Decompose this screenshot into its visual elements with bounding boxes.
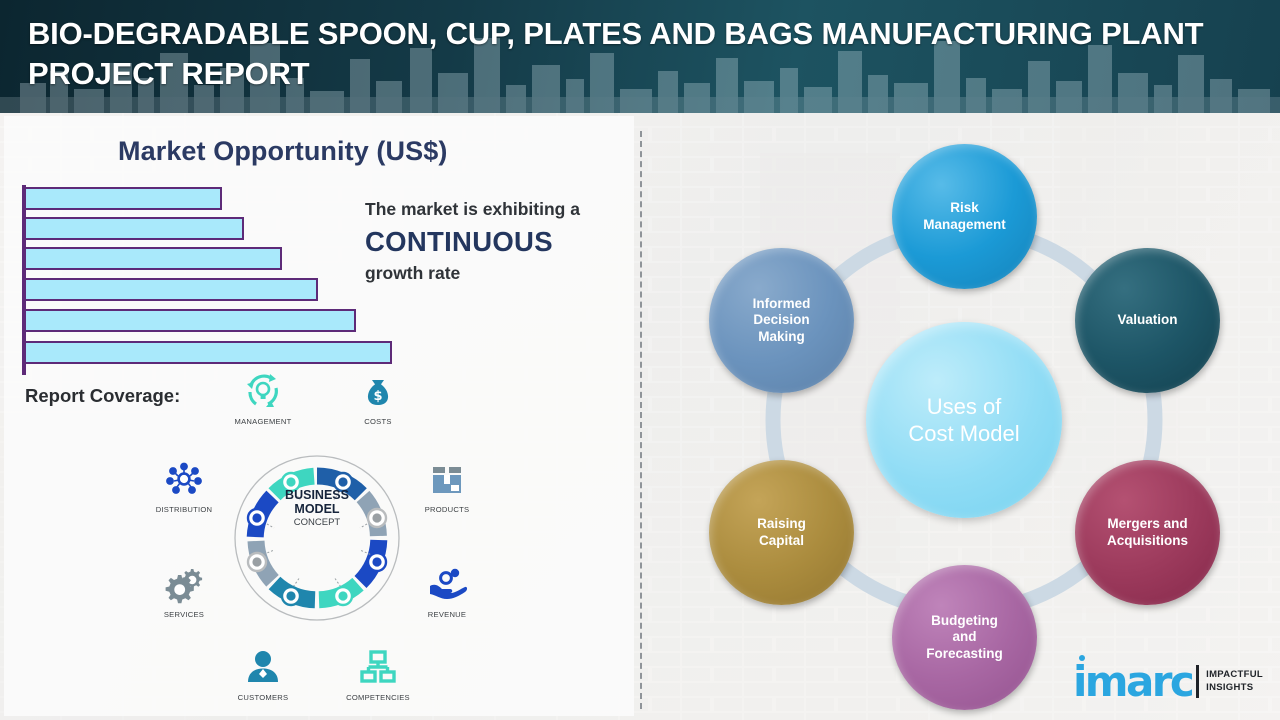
cycle-center-node[interactable]: Uses of Cost Model	[866, 322, 1062, 518]
node-label-line-3: Forecasting	[926, 646, 1003, 662]
coverage-item-customers: CUSTOMERS	[217, 644, 309, 702]
hand-coins-icon	[401, 561, 493, 607]
imarc-logo: imarc IMPACTFUL INSIGHTS	[1073, 659, 1273, 704]
blurb-line-1: The market is exhibiting a	[365, 198, 633, 222]
page-header: BIO-DEGRADABLE SPOON, CUP, PLATES AND BA…	[0, 0, 1280, 113]
center-label-line-2: Cost Model	[908, 420, 1019, 448]
user-person-icon	[217, 644, 309, 690]
svg-text:$: $	[373, 389, 382, 404]
coverage-item-services: SERVICES	[138, 561, 230, 619]
cycle-node-informed-decision-making[interactable]: Informed Decision Making	[709, 248, 854, 393]
node-label-line-2: and	[926, 629, 1003, 645]
node-label-line-1: Mergers and	[1107, 516, 1188, 532]
coverage-label-revenue: REVENUE	[401, 610, 493, 619]
business-model-center-text: BUSINESS MODEL CONCEPT	[257, 488, 377, 530]
bar-row	[26, 278, 318, 301]
bar-row	[26, 187, 222, 210]
cycle-node-mergers-acquisitions[interactable]: Mergers and Acquisitions	[1075, 460, 1220, 605]
logo-separator	[1196, 665, 1199, 698]
logo-wordmark: imarc	[1073, 661, 1192, 703]
coverage-label-competencies: COMPETENCIES	[332, 693, 424, 702]
money-bag-icon: $	[332, 368, 424, 414]
logo-tagline-line-2: INSIGHTS	[1206, 682, 1263, 695]
logo-tagline-line-1: IMPACTFUL	[1206, 669, 1263, 682]
uses-of-cost-model-diagram: Risk Management Valuation Mergers and Ac…	[645, 113, 1280, 720]
node-label-line-2: Capital	[757, 533, 806, 549]
cycle-node-raising-capital[interactable]: Raising Capital	[709, 460, 854, 605]
bar-row	[26, 309, 356, 332]
panel-divider	[640, 131, 642, 709]
cycle-node-budgeting-forecasting[interactable]: Budgeting and Forecasting	[892, 565, 1037, 710]
coverage-item-management: MANAGEMENT	[217, 368, 309, 426]
page-title: BIO-DEGRADABLE SPOON, CUP, PLATES AND BA…	[28, 14, 1258, 93]
market-opportunity-title: Market Opportunity (US$)	[118, 136, 447, 167]
gears-icon	[138, 561, 230, 607]
recycle-bulb-icon	[217, 368, 309, 414]
blurb-line-2: CONTINUOUS	[365, 222, 633, 262]
coverage-label-products: PRODUCTS	[401, 505, 493, 514]
node-label-line-1: Valuation	[1117, 312, 1177, 328]
coverage-label-management: MANAGEMENT	[217, 417, 309, 426]
growth-blurb: The market is exhibiting a CONTINUOUS gr…	[365, 198, 633, 284]
coverage-item-products: PRODUCTS	[401, 456, 493, 514]
node-label-line-1: Informed	[753, 296, 811, 312]
node-label-line-2: Decision	[753, 312, 811, 328]
wheel-line-2: MODEL	[257, 502, 377, 516]
coverage-label-customers: CUSTOMERS	[217, 693, 309, 702]
logo-dot-icon	[1079, 655, 1085, 661]
coverage-item-costs: $ COSTS	[332, 368, 424, 426]
node-label-line-2: Management	[923, 217, 1006, 233]
wheel-line-3: CONCEPT	[257, 516, 377, 530]
cycle-node-valuation[interactable]: Valuation	[1075, 248, 1220, 393]
wheel-line-1: BUSINESS	[257, 488, 377, 502]
package-box-icon	[401, 456, 493, 502]
org-chart-icon	[332, 644, 424, 690]
coverage-item-competencies: COMPETENCIES	[332, 644, 424, 702]
coverage-item-distribution: DISTRIBUTION	[138, 456, 230, 514]
center-label-line-1: Uses of	[908, 393, 1019, 421]
business-model-wheel	[217, 438, 417, 638]
node-label-line-1: Risk	[923, 200, 1006, 216]
bar-row	[26, 341, 392, 364]
node-label-line-2: Acquisitions	[1107, 533, 1188, 549]
coverage-label-services: SERVICES	[138, 610, 230, 619]
node-label-line-1: Budgeting	[926, 613, 1003, 629]
coverage-item-revenue: REVENUE	[401, 561, 493, 619]
node-label-line-3: Making	[753, 329, 811, 345]
bar-row	[26, 217, 244, 240]
report-coverage-infographic: BUSINESS MODEL CONCEPT MANAGEMENT	[145, 368, 495, 713]
blurb-line-3: growth rate	[365, 262, 633, 285]
node-label-line-1: Raising	[757, 516, 806, 532]
coverage-label-costs: COSTS	[332, 417, 424, 426]
bar-row	[26, 247, 282, 270]
network-nodes-icon	[138, 456, 230, 502]
market-opportunity-bar-chart	[22, 185, 422, 375]
coverage-label-distribution: DISTRIBUTION	[138, 505, 230, 514]
cycle-node-risk-management[interactable]: Risk Management	[892, 144, 1037, 289]
